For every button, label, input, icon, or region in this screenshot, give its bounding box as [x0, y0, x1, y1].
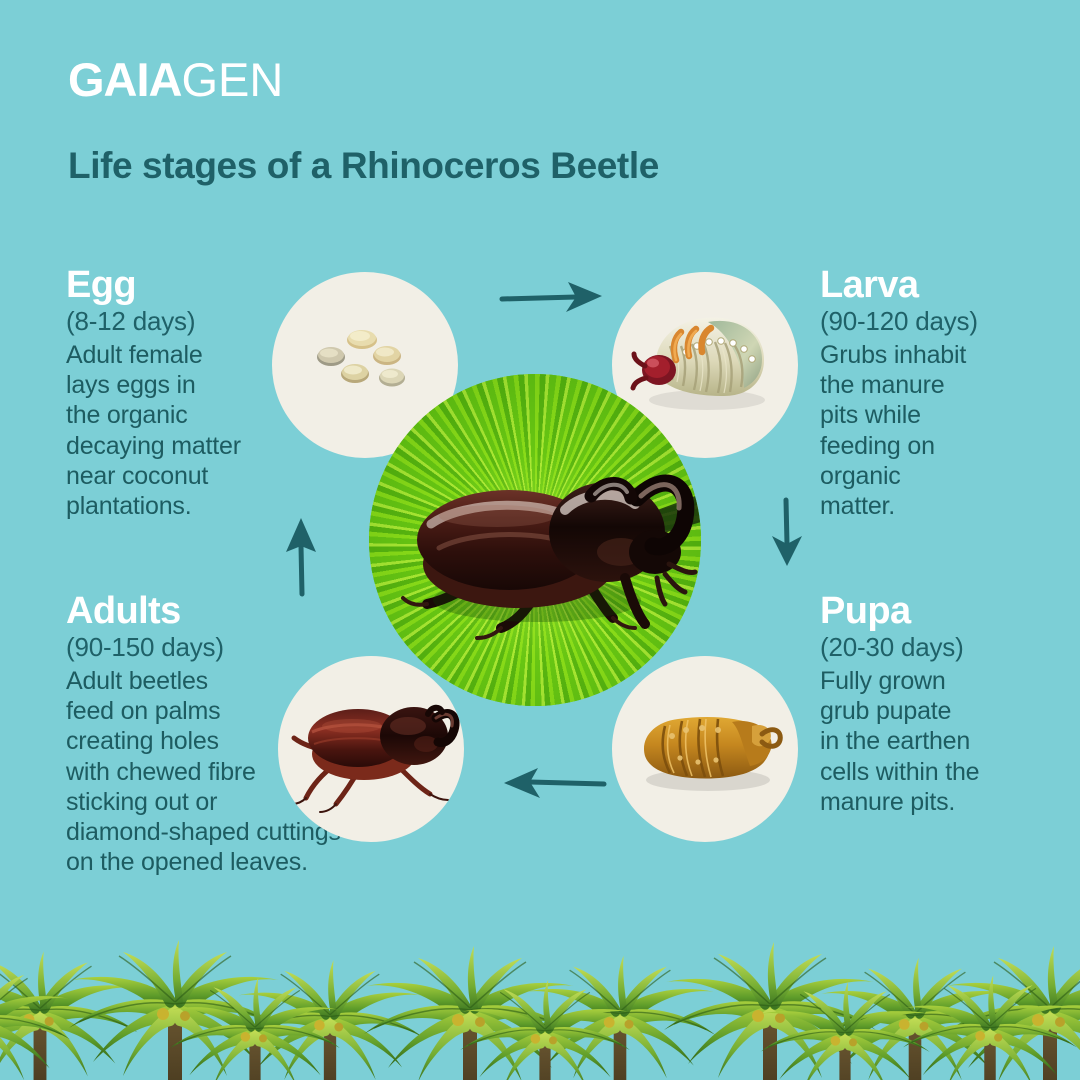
page-title: Life stages of a Rhinoceros Beetle — [68, 145, 659, 187]
arrow-larva-to-pupa-icon — [762, 496, 810, 570]
brand-logo-light: GEN — [182, 53, 284, 106]
stage-description-larva: Grubs inhabit the manure pits while feed… — [820, 340, 1080, 522]
stage-block-larva: Larva (90-120 days) Grubs inhabit the ma… — [820, 266, 1080, 521]
stage-duration-pupa: (20-30 days) — [820, 633, 1080, 662]
arrow-pupa-to-adults-icon — [498, 758, 608, 806]
stage-block-pupa: Pupa (20-30 days) Fully grown grub pupat… — [820, 592, 1080, 817]
brand-logo: GAIAGEN — [68, 56, 283, 103]
stage-name-pupa: Pupa — [820, 592, 1080, 631]
brand-logo-bold: GAIA — [68, 53, 182, 106]
stage-duration-larva: (90-120 days) — [820, 307, 1080, 336]
coconut-palms-illustration — [0, 920, 1080, 1080]
stage-description-pupa: Fully grown grub pupate in the earthen c… — [820, 666, 1080, 817]
stage-name-larva: Larva — [820, 266, 1080, 305]
arrow-egg-to-larva-icon — [498, 276, 608, 324]
infographic-canvas: GAIAGEN Life stages of a Rhinoceros Beet… — [0, 0, 1080, 1080]
center-rhinoceros-beetle-illustration — [369, 374, 701, 706]
arrow-adults-to-egg-icon — [278, 512, 326, 598]
center-image-beetle-on-leaf — [369, 374, 701, 706]
